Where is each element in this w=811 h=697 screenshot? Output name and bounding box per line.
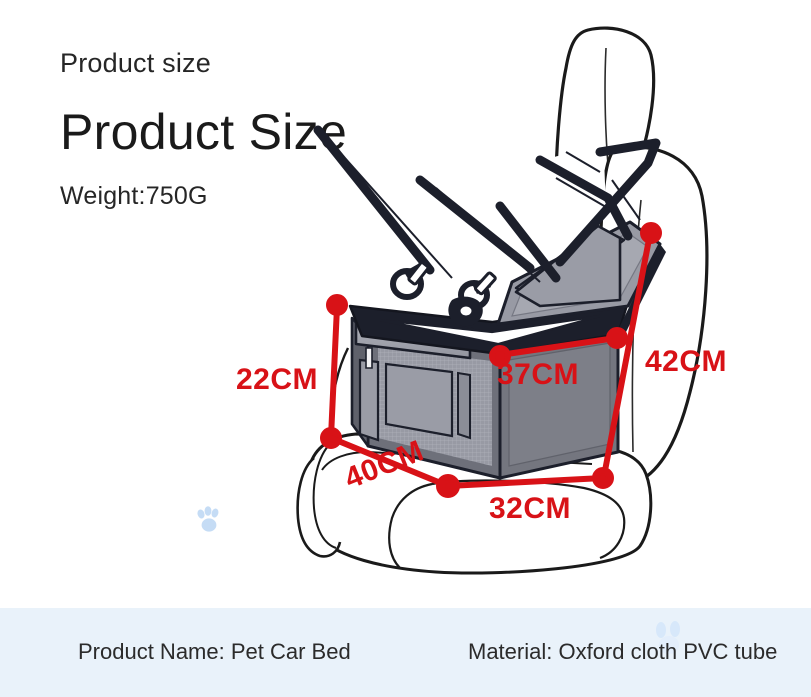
footer-product-name: Product Name: Pet Car Bed [78,639,351,665]
dimension-label-32cm: 32CM [489,492,571,526]
footer-bar: Product Name: Pet Car Bed Material: Oxfo… [0,608,811,697]
product-size-infographic: Product size Product Size Weight:750G [0,0,811,697]
dimension-line-22cm [323,297,345,446]
dimension-label-22cm: 22CM [236,363,318,397]
dimension-label-37cm: 37CM [497,358,579,392]
footer-material: Material: Oxford cloth PVC tube [468,639,777,665]
dimension-label-42cm: 42CM [645,345,727,379]
paw-print-icon [192,504,226,538]
product-illustration [0,0,811,620]
